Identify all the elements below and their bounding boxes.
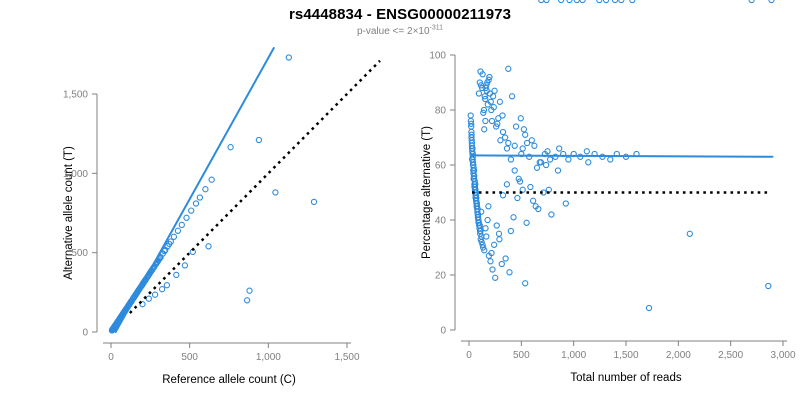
data-point: [500, 129, 505, 134]
data-point: [174, 272, 179, 277]
data-point: [630, 0, 635, 3]
data-point: [483, 118, 488, 123]
data-point: [507, 270, 512, 275]
data-point: [512, 168, 517, 173]
panel-allele-counts: 05001,0001,50005001,0001,500 Reference a…: [0, 0, 400, 400]
data-point: [521, 127, 526, 132]
data-point: [687, 231, 692, 236]
data-point: [189, 208, 194, 213]
data-points: [109, 55, 316, 333]
data-point: [503, 135, 508, 140]
data-point: [514, 124, 519, 129]
y-axis-title-right: Percentage alternative (T): [421, 45, 433, 340]
data-point: [179, 222, 184, 227]
data-point: [549, 212, 554, 217]
data-point: [531, 198, 536, 203]
data-point: [476, 91, 481, 96]
data-point: [488, 259, 493, 264]
data-point: [528, 184, 533, 189]
data-point: [496, 231, 501, 236]
data-point: [544, 0, 549, 3]
data-point: [175, 228, 180, 233]
data-point: [518, 116, 523, 121]
data-point: [749, 0, 754, 3]
y-tick-label: 0: [440, 326, 446, 337]
data-point: [508, 228, 513, 233]
x-tick-label: 0: [108, 352, 114, 363]
data-point: [486, 204, 491, 209]
data-point: [184, 215, 189, 220]
data-point: [559, 0, 564, 3]
data-point: [619, 0, 624, 3]
data-point: [769, 0, 774, 3]
data-point: [612, 0, 617, 3]
data-point: [544, 162, 549, 167]
data-point: [584, 149, 589, 154]
data-point: [468, 113, 473, 118]
data-point: [512, 143, 517, 148]
data-point: [490, 267, 495, 272]
data-point: [597, 0, 602, 3]
data-point: [193, 201, 198, 206]
data-point: [485, 217, 490, 222]
data-point: [511, 215, 516, 220]
data-point: [510, 94, 515, 99]
panel-percentage-alternative: 02040608010005001,0001,5002,0002,5003,00…: [400, 0, 800, 400]
data-point: [524, 220, 529, 225]
identity-line: [130, 61, 380, 313]
x-tick-label: 1,000: [561, 350, 586, 361]
y-tick-label: 20: [435, 271, 447, 282]
data-point: [256, 137, 261, 142]
data-point: [586, 160, 591, 165]
mean-percentage-line: [472, 155, 772, 156]
data-point: [766, 283, 771, 288]
data-point: [482, 127, 487, 132]
data-point: [608, 157, 613, 162]
data-point: [153, 292, 158, 297]
data-point: [493, 275, 498, 280]
data-point: [646, 305, 651, 310]
data-point: [604, 0, 609, 3]
data-point: [164, 283, 169, 288]
data-point: [311, 199, 316, 204]
data-point: [506, 66, 511, 71]
data-point: [555, 168, 560, 173]
data-point: [489, 118, 494, 123]
y-tick-label: 40: [435, 216, 447, 227]
data-point: [228, 145, 233, 150]
data-point: [566, 157, 571, 162]
data-point: [160, 287, 165, 292]
data-point: [494, 223, 499, 228]
data-point: [534, 165, 539, 170]
scatter-plot-percentage[interactable]: 02040608010005001,0001,5002,0002,5003,00…: [400, 0, 800, 400]
data-point: [146, 296, 151, 301]
x-tick-label: 2,500: [718, 350, 743, 361]
figure-canvas: rs4448834 - ENSG00000211973 p-value <= 2…: [0, 0, 800, 400]
data-point: [273, 190, 278, 195]
data-point: [492, 88, 497, 93]
x-tick-label: 0: [466, 350, 472, 361]
data-point: [203, 187, 208, 192]
data-point: [286, 55, 291, 60]
data-point: [497, 99, 502, 104]
data-point: [182, 263, 187, 268]
data-point: [532, 143, 537, 148]
data-point: [497, 237, 502, 242]
x-axis-title-right: Total number of reads: [389, 372, 800, 384]
data-point: [523, 132, 528, 137]
data-point: [523, 281, 528, 286]
data-point: [508, 157, 513, 162]
data-point: [548, 157, 553, 162]
scatter-plot-allele-counts[interactable]: 05001,0001,50005001,0001,500: [0, 0, 400, 400]
y-tick-label: 60: [435, 161, 447, 172]
x-tick-label: 500: [513, 350, 530, 361]
data-point: [525, 140, 530, 145]
data-point: [563, 201, 568, 206]
x-tick-label: 1,500: [613, 350, 638, 361]
data-point: [499, 261, 504, 266]
data-point: [500, 113, 505, 118]
data-point: [503, 256, 508, 261]
x-tick-label: 2,000: [666, 350, 691, 361]
x-tick-label: 500: [181, 352, 198, 363]
data-point: [209, 177, 214, 182]
data-point: [580, 0, 585, 3]
data-point: [197, 195, 202, 200]
data-point: [171, 234, 176, 239]
y-tick-label: 0: [82, 328, 88, 339]
x-axis-title-left: Reference allele count (C): [31, 374, 427, 386]
data-point: [504, 146, 509, 151]
data-point: [483, 226, 488, 231]
data-point: [504, 182, 509, 187]
data-point: [574, 0, 579, 3]
y-tick-label: 80: [435, 106, 447, 117]
data-point: [539, 0, 544, 3]
data-point: [206, 244, 211, 249]
data-point: [557, 146, 562, 151]
data-point: [506, 140, 511, 145]
data-point: [567, 0, 572, 3]
data-point: [247, 288, 252, 293]
data-point: [245, 298, 250, 303]
x-tick-label: 3,000: [770, 350, 795, 361]
data-point: [492, 242, 497, 247]
data-point: [520, 146, 525, 151]
x-tick-label: 1,500: [334, 352, 359, 363]
x-tick-label: 1,000: [256, 352, 281, 363]
y-axis-title-left: Alternative allele count (T): [63, 84, 75, 342]
data-point: [515, 195, 520, 200]
